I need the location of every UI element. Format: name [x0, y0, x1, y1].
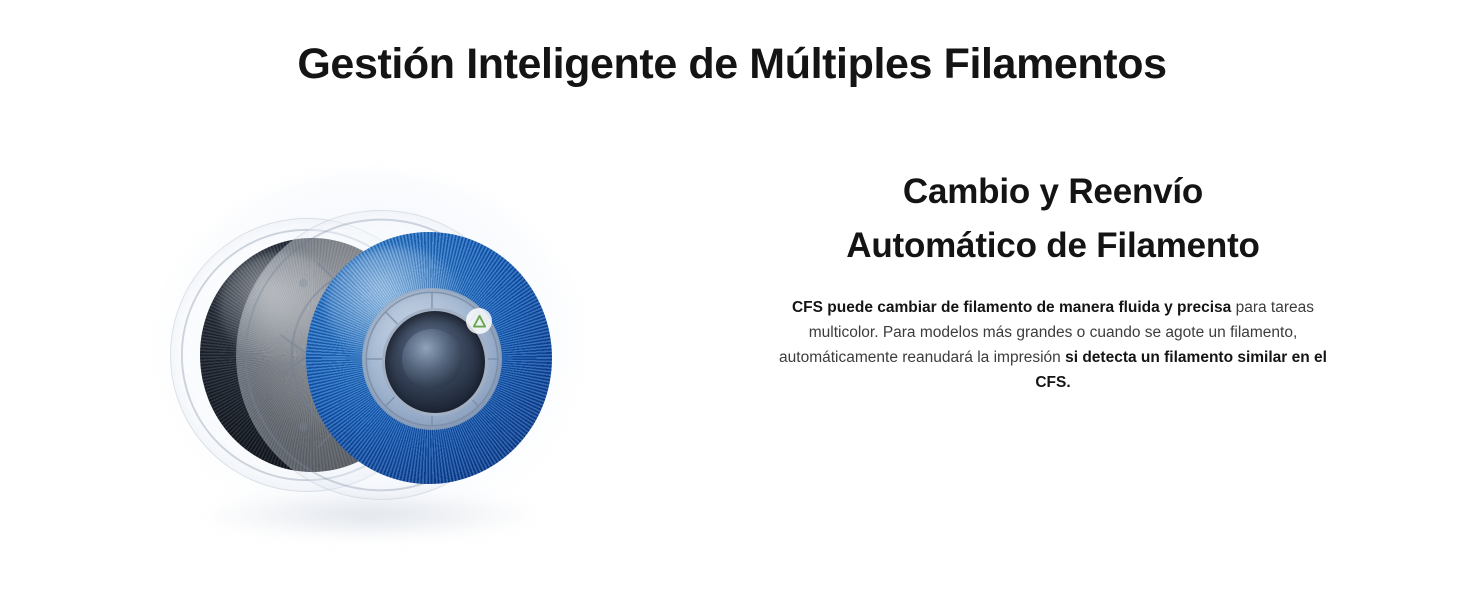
- feature-description: CFS puede cambiar de filamento de manera…: [775, 295, 1331, 395]
- product-image: [110, 140, 630, 560]
- green-triangle-marker-icon: [466, 308, 492, 334]
- feature-description-bold-1: CFS puede cambiar de filamento de manera…: [792, 299, 1231, 316]
- page-title: Gestión Inteligente de Múltiples Filamen…: [0, 38, 1464, 90]
- feature-heading: Cambio y Reenvío Automático de Filamento: [748, 165, 1358, 273]
- feature-heading-line-1: Cambio y Reenvío: [748, 165, 1358, 219]
- feature-text-column: Cambio y Reenvío Automático de Filamento…: [748, 165, 1358, 395]
- feature-description-bold-2: si detecta un filamento similar en el CF…: [1035, 349, 1327, 391]
- feature-heading-line-2: Automático de Filamento: [748, 219, 1358, 273]
- spool-stage: [110, 140, 630, 560]
- content-area: Cambio y Reenvío Automático de Filamento…: [0, 120, 1464, 600]
- spool-hub-core: [402, 329, 462, 389]
